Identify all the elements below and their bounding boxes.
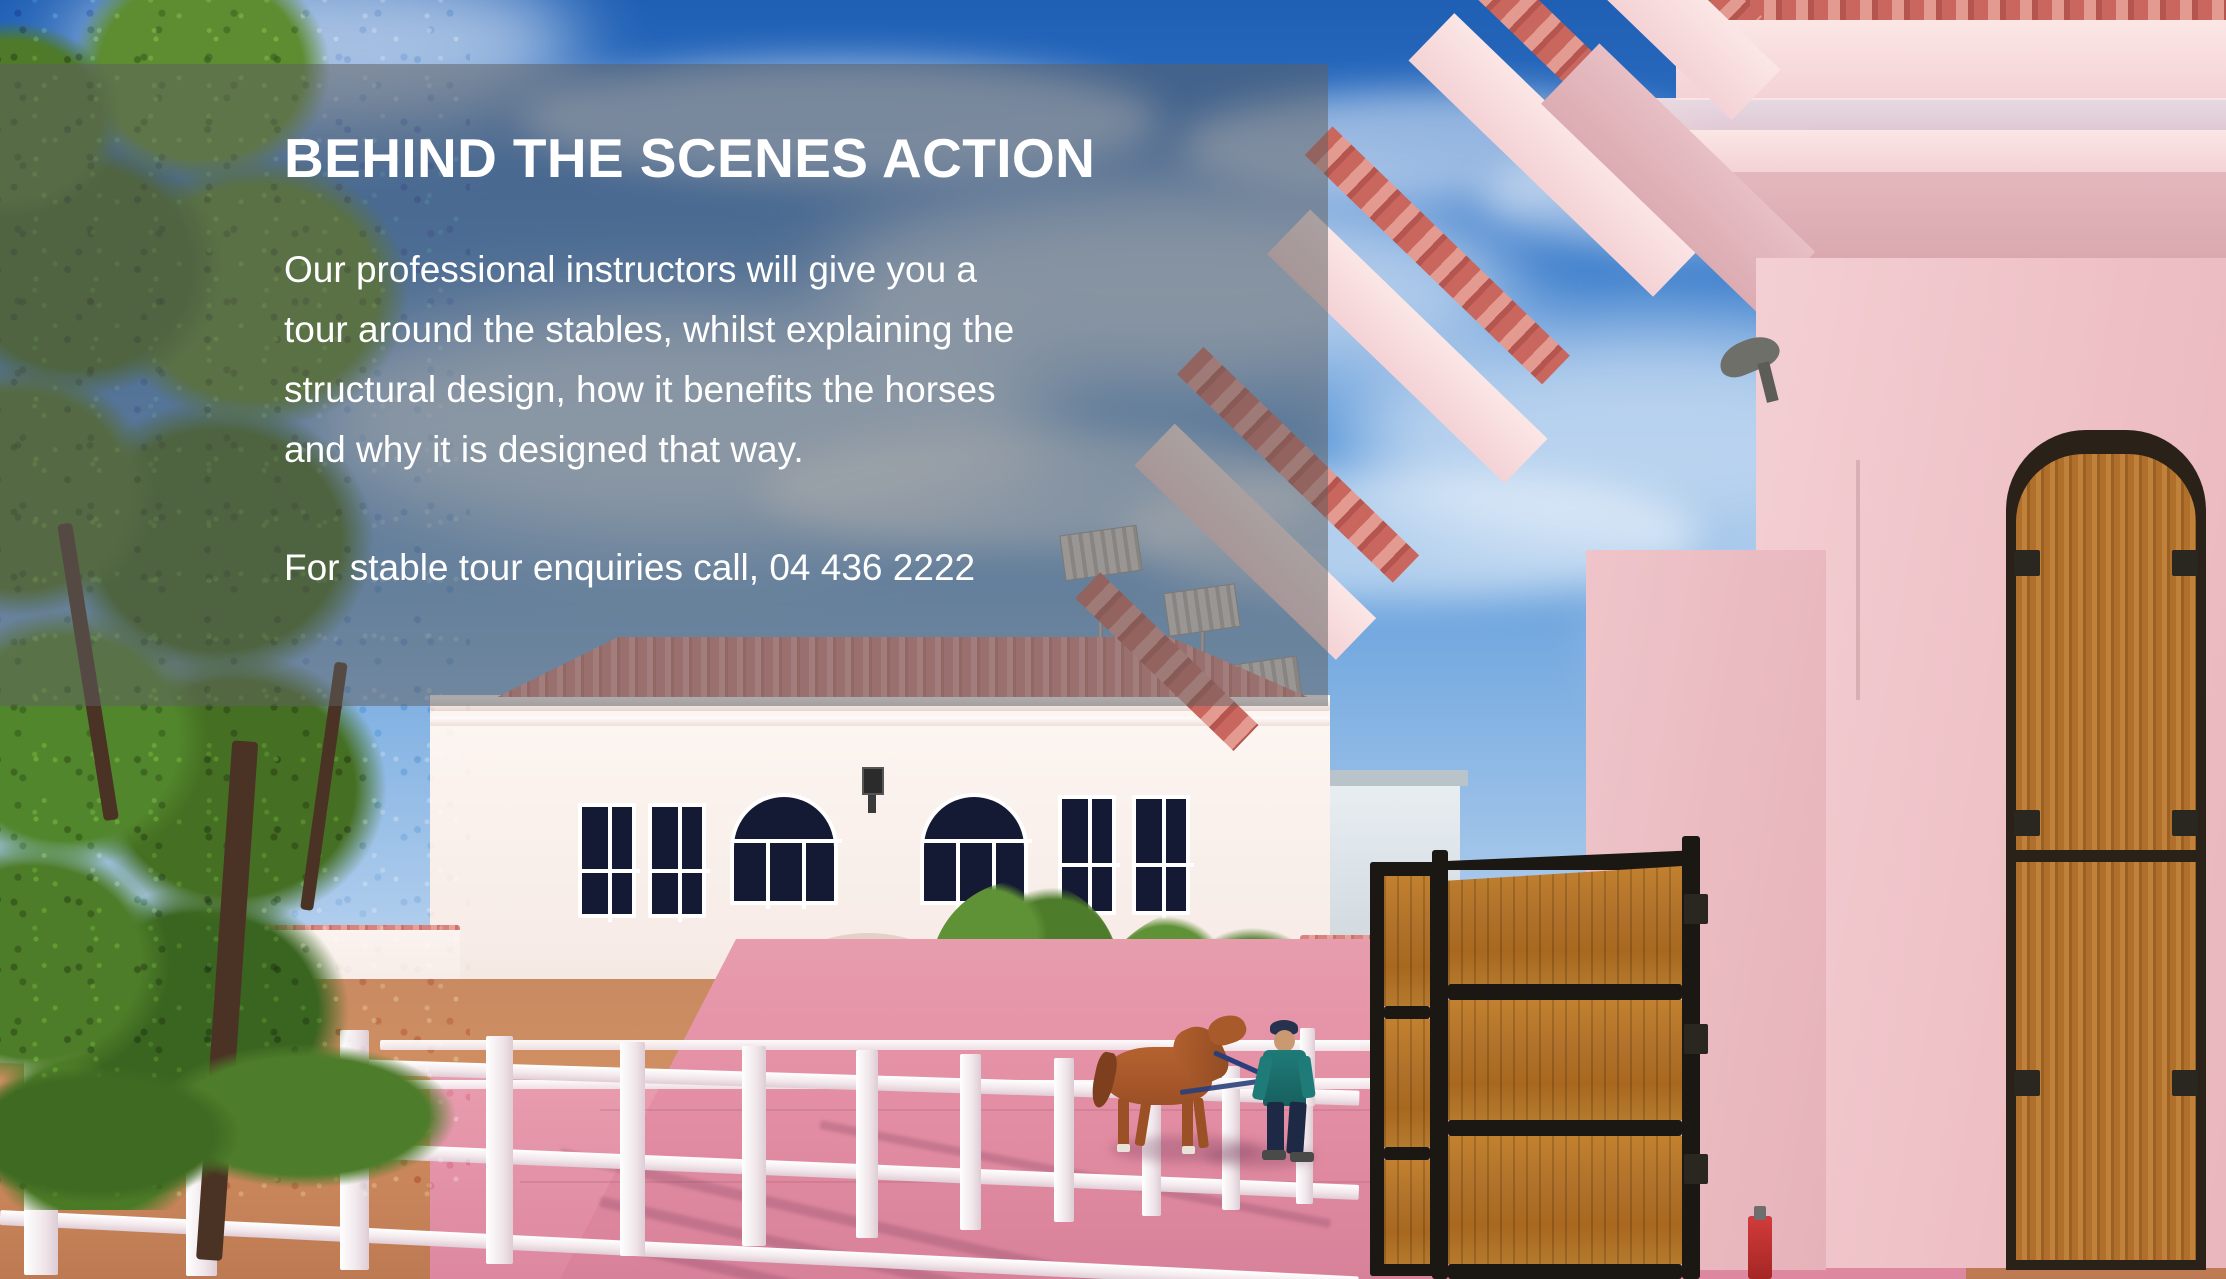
- stable-gate-second-leaf[interactable]: [1370, 862, 1442, 1276]
- wall-light-bracket: [868, 795, 876, 813]
- gate-panel-top: [1448, 866, 1682, 988]
- window-upper-4: [1132, 795, 1190, 915]
- gate-panel-middle: [1448, 1000, 1682, 1120]
- text-overlay-panel: BEHIND THE SCENES ACTION Our professiona…: [0, 64, 1328, 706]
- body-line-4: and why it is designed that way.: [284, 420, 1328, 480]
- body-line-3: structural design, how it benefits the h…: [284, 360, 1328, 420]
- arched-window-left: [730, 793, 838, 905]
- handler-head: [1274, 1030, 1295, 1052]
- spacer: [284, 480, 1328, 538]
- promo-banner: BEHIND THE SCENES ACTION Our professiona…: [0, 0, 2226, 1279]
- right-door-arch: [2006, 430, 2206, 1270]
- fire-extinguisher-valve: [1754, 1206, 1766, 1220]
- window-upper-2: [648, 803, 706, 918]
- stable-gate[interactable]: [1432, 836, 1700, 1279]
- tree-lower-foliage: [0, 1040, 460, 1230]
- gate-panel-bottom: [1448, 1136, 1682, 1264]
- body-line-1: Our professional instructors will give y…: [284, 240, 1328, 300]
- contact-line: For stable tour enquiries call, 04 436 2…: [284, 538, 1328, 598]
- body-line-2: tour around the stables, whilst explaini…: [284, 300, 1328, 360]
- page-title: BEHIND THE SCENES ACTION: [284, 130, 1328, 188]
- window-upper-1: [578, 803, 636, 918]
- fire-extinguisher: [1748, 1216, 1772, 1279]
- wall-light-icon: [862, 767, 884, 795]
